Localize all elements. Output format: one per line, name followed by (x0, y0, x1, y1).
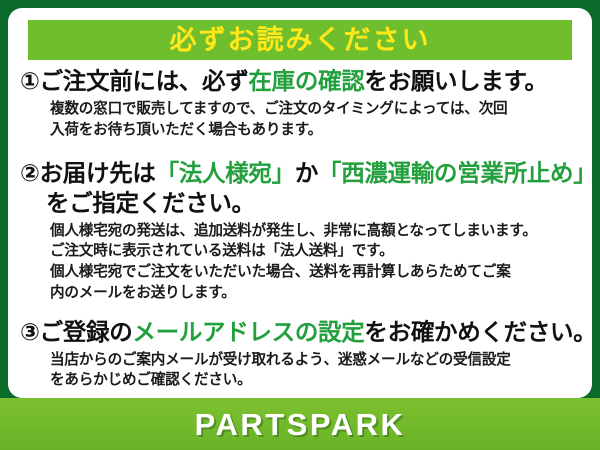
notice-banner-image: 必ずお読みください ①ご注文前には、必ず在庫の確認をお願いします。 複数の窓口で… (0, 0, 600, 450)
notice-item-2-heading-highlight: 「法人様宛」 (156, 160, 295, 186)
notice-item-2-heading-line-1: ②お届け先は「法人様宛」か「西濃運輸の営業所止め」 (20, 158, 580, 188)
notice-item-1-heading: ①ご注文前には、必ず在庫の確認をお願いします。 (20, 66, 580, 96)
notice-item-2-body-line-3: 個人様宅宛でご注文をいただいた場合、送料を再計算しあらためてご案 (50, 262, 580, 283)
notice-item-1-body-line-2: 入荷をお待ち頂いただく場合もあります。 (50, 120, 580, 141)
notice-item-3-marker: ③ (20, 319, 40, 345)
notice-item-3-heading-suffix: をお確かめください。 (364, 319, 596, 345)
notice-item-3-heading-highlight: メールアドレスの設定 (132, 319, 364, 345)
notice-item-2-heading-highlight-2: 「西濃運輸の営業所止め」 (318, 160, 596, 186)
notice-item-3: ③ご登録のメールアドレスの設定をお確かめください。 当店からのご案内メールが受け… (20, 317, 580, 392)
notice-item-1-heading-highlight: 在庫の確認 (248, 68, 364, 94)
notice-item-3-heading-prefix: ご登録の (40, 319, 133, 345)
notice-item-3-body-line-2: をあらかじめご確認ください。 (50, 370, 580, 391)
partspark-logo-text: PARTSPARK (195, 409, 406, 440)
notice-item-2-body-line-2: ご注文時に表示されている送料は「法人送料」です。 (50, 241, 580, 262)
notice-item-3-body-line-1: 当店からのご案内メールが受け取れるよう、迷惑メールなどの受信設定 (50, 350, 580, 371)
notice-item-1-heading-prefix: ご注文前には、必ず (40, 68, 249, 94)
notice-item-1-heading-suffix: をお願いします。 (364, 68, 547, 94)
notice-item-2-heading-middle: か (295, 160, 318, 186)
notice-item-2-body-line-4: 内のメールをお送りします。 (50, 283, 580, 304)
notice-item-1-marker: ① (20, 68, 40, 94)
spacer-2 (20, 310, 580, 317)
title-banner-text: 必ずお読みください (170, 27, 431, 54)
notice-item-3-heading: ③ご登録のメールアドレスの設定をお確かめください。 (20, 317, 580, 347)
title-banner: 必ずお読みください (28, 20, 572, 60)
notice-item-1-body-line-1: 複数の窓口で販売してますので、ご注文のタイミングによっては、次回 (50, 99, 580, 120)
notice-item-2: ②お届け先は「法人様宛」か「西濃運輸の営業所止め」 をご指定ください。 個人様宅… (20, 158, 580, 304)
content-panel: 必ずお読みください ①ご注文前には、必ず在庫の確認をお願いします。 複数の窓口で… (8, 8, 592, 398)
notice-item-2-marker: ② (20, 160, 40, 186)
notice-item-2-heading-prefix: お届け先は (40, 160, 156, 186)
notice-item-2-heading-line-2: をご指定ください。 (20, 188, 580, 218)
notice-item-1: ①ご注文前には、必ず在庫の確認をお願いします。 複数の窓口で販売してますので、ご… (20, 66, 580, 141)
footer-logo-band: PARTSPARK (0, 398, 600, 450)
notice-items: ①ご注文前には、必ず在庫の確認をお願いします。 複数の窓口で販売してますので、ご… (20, 66, 580, 397)
spacer-1 (20, 147, 580, 158)
notice-item-2-body-line-1: 個人様宅宛の発送は、追加送料が発生し、非常に高額となってしまいます。 (50, 221, 580, 242)
